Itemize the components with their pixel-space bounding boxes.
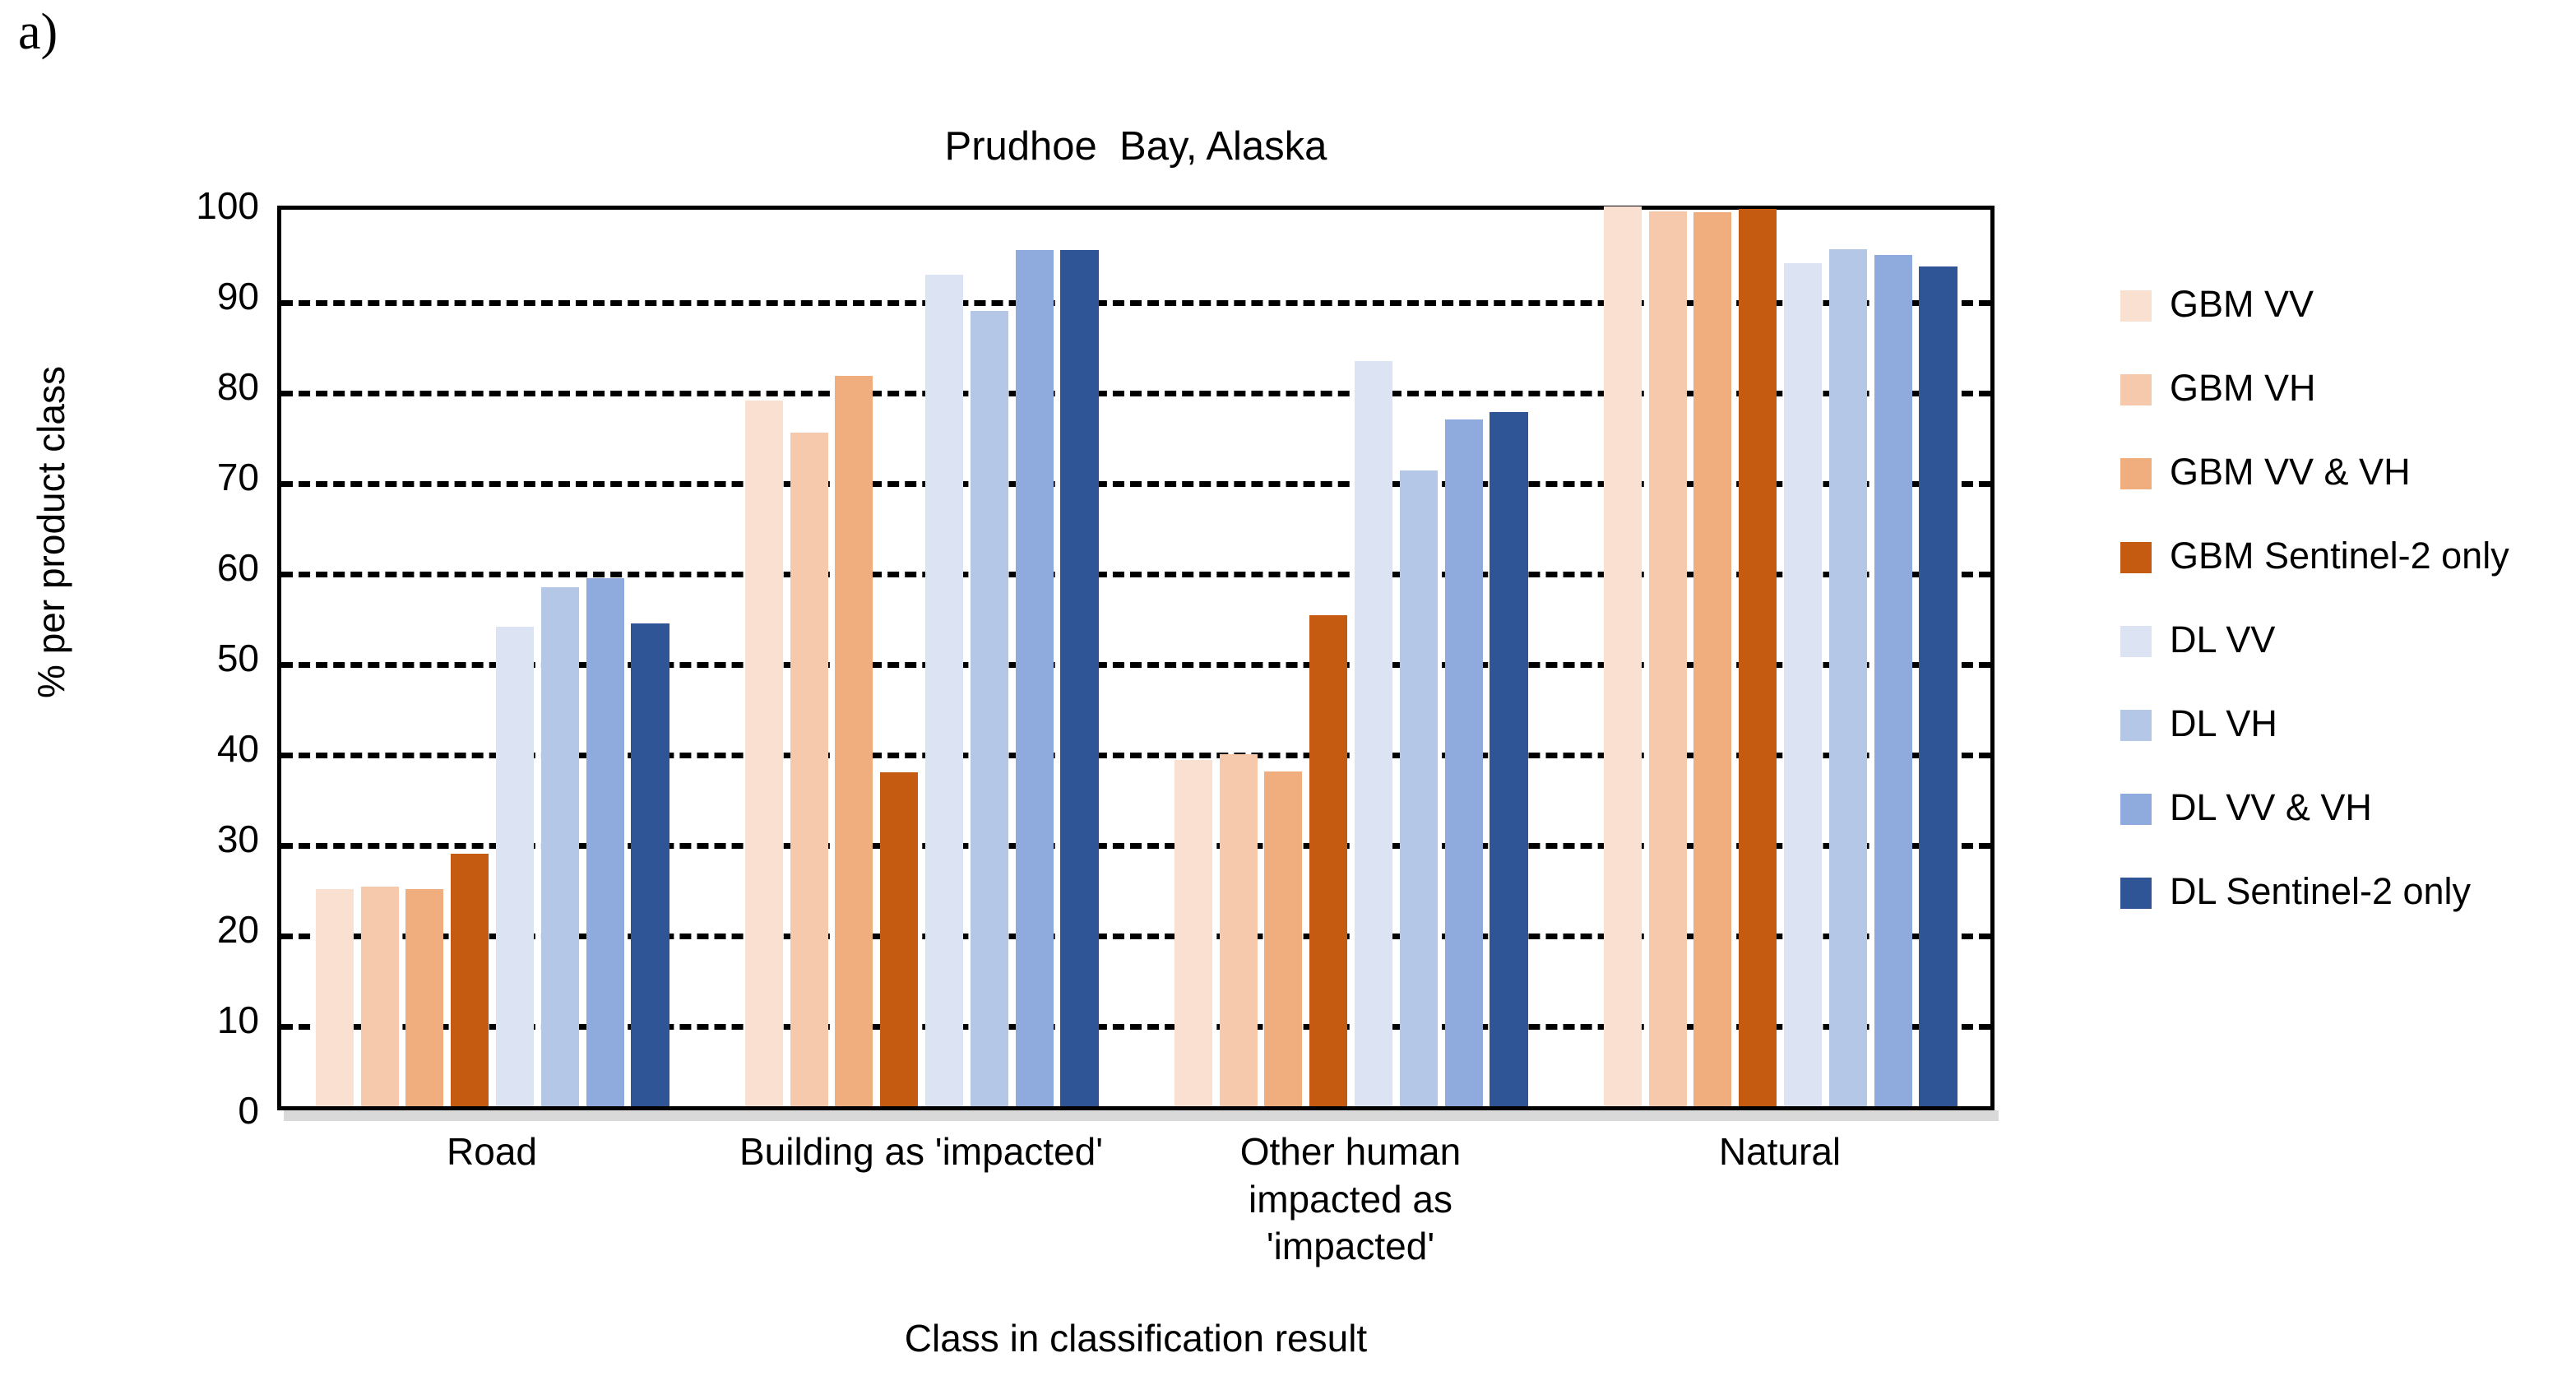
bar [1919, 266, 1957, 1106]
bar [451, 854, 489, 1106]
bar [1604, 206, 1642, 1107]
legend-swatch-icon [2120, 542, 2152, 573]
bar [971, 311, 1008, 1106]
x-tick-label-line: impacted as [1136, 1176, 1565, 1224]
x-axis-tick-labels: RoadBuilding as 'impacted'Other humanimp… [277, 1128, 1995, 1318]
bar [586, 578, 624, 1106]
bar [1400, 470, 1438, 1106]
gridline [281, 843, 1990, 849]
bar [1490, 412, 1527, 1106]
legend-swatch-icon [2120, 878, 2152, 909]
x-tick-label: Building as 'impacted' [707, 1128, 1136, 1176]
bar [1649, 211, 1687, 1106]
bar [1784, 263, 1822, 1106]
gridline [281, 481, 1990, 487]
legend-label: GBM VH [2170, 367, 2316, 410]
y-tick-label: 20 [95, 907, 259, 952]
baseline-strip [284, 1110, 1999, 1121]
bar [361, 887, 399, 1106]
bar [1829, 249, 1867, 1106]
y-axis-title: % per product class [29, 359, 73, 705]
legend-label: GBM VV [2170, 283, 2314, 326]
bar [1264, 771, 1302, 1106]
bar [1309, 615, 1347, 1106]
bar [631, 623, 669, 1106]
plot-inner [281, 210, 1990, 1106]
chart-title: Prudhoe Bay, Alaska [277, 123, 1995, 169]
y-tick-label: 60 [95, 545, 259, 590]
plot-area [277, 206, 1995, 1110]
gridline [281, 934, 1990, 939]
x-tick-label-line: Road [277, 1128, 707, 1176]
legend-swatch-icon [2120, 710, 2152, 741]
legend-label: GBM VV & VH [2170, 451, 2411, 493]
y-tick-label: 70 [95, 455, 259, 499]
bar [1693, 212, 1731, 1106]
bar [541, 587, 579, 1106]
bar [880, 772, 918, 1106]
bar [1874, 255, 1912, 1106]
x-tick-label-line: Building as 'impacted' [707, 1128, 1136, 1176]
bar [1739, 209, 1777, 1106]
x-tick-label-line: 'impacted' [1136, 1223, 1565, 1271]
legend-label: DL VV [2170, 619, 2275, 661]
y-axis-tick-labels: 1009080706050403020100 [90, 206, 259, 1110]
bar [1016, 250, 1054, 1106]
x-tick-label-line: Natural [1565, 1128, 1995, 1176]
legend-swatch-icon [2120, 458, 2152, 489]
gridline [281, 300, 1990, 306]
gridline [281, 572, 1990, 577]
bar [405, 889, 443, 1106]
x-tick-label: Other humanimpacted as'impacted' [1136, 1128, 1565, 1271]
bar [1060, 250, 1098, 1106]
legend-swatch-icon [2120, 794, 2152, 825]
x-axis-title: Class in classification result [277, 1316, 1995, 1360]
legend-label: DL Sentinel-2 only [2170, 870, 2471, 913]
bar [1445, 419, 1483, 1106]
bar [745, 401, 783, 1106]
bar [835, 376, 873, 1106]
gridline [281, 662, 1990, 668]
legend-swatch-icon [2120, 290, 2152, 322]
x-tick-label: Road [277, 1128, 707, 1176]
x-tick-label: Natural [1565, 1128, 1995, 1176]
gridline [281, 1024, 1990, 1030]
bar [790, 433, 828, 1107]
gridline [281, 391, 1990, 396]
legend-label: DL VV & VH [2170, 786, 2372, 829]
y-tick-label: 50 [95, 636, 259, 680]
gridline [281, 753, 1990, 758]
y-tick-label: 80 [95, 364, 259, 409]
y-tick-label: 40 [95, 726, 259, 771]
y-tick-label: 0 [95, 1088, 259, 1133]
bar [1355, 361, 1392, 1106]
legend-label: DL VH [2170, 702, 2277, 745]
bar [1220, 754, 1258, 1106]
bar [1174, 760, 1212, 1106]
legend-swatch-icon [2120, 626, 2152, 657]
panel-letter: a) [18, 7, 58, 58]
legend-swatch-icon [2120, 374, 2152, 405]
y-tick-label: 100 [95, 183, 259, 228]
y-tick-label: 30 [95, 817, 259, 861]
y-tick-label: 90 [95, 274, 259, 318]
x-tick-label-line: Other human [1136, 1128, 1565, 1176]
bar [316, 889, 354, 1106]
y-tick-label: 10 [95, 998, 259, 1042]
legend-label: GBM Sentinel-2 only [2170, 535, 2509, 577]
bar [925, 275, 963, 1106]
bar [496, 627, 534, 1106]
